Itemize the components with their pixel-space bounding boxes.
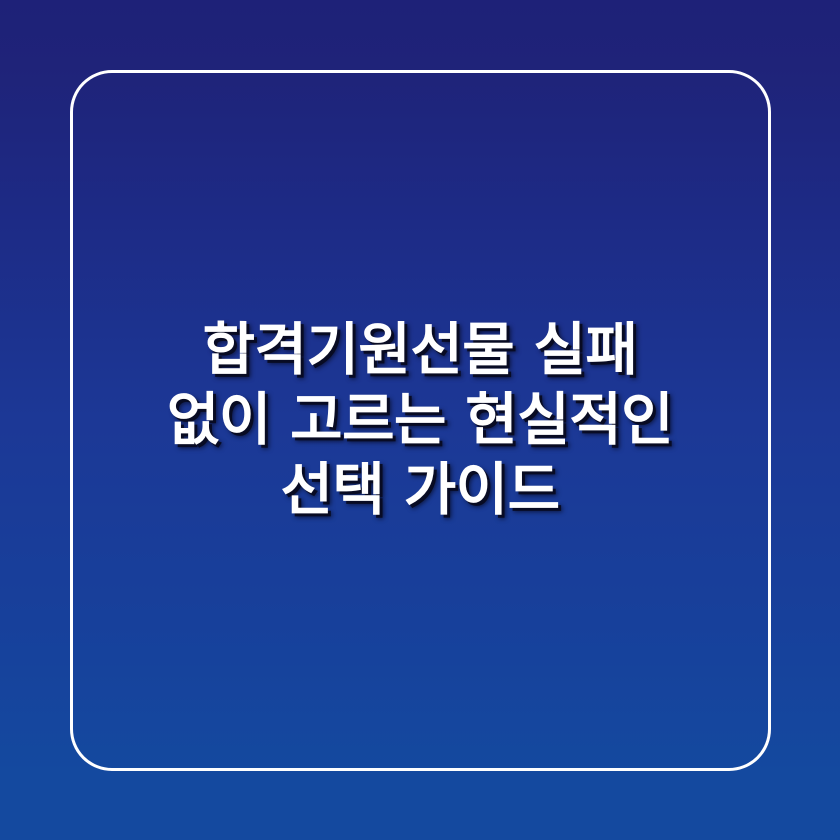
- thumbnail-card: 합격기원선물 실패 없이 고르는 현실적인 선택 가이드: [0, 0, 840, 840]
- headline-line-1: 합격기원선물 실패: [203, 315, 638, 385]
- headline-line-2: 없이 고르는 현실적인: [167, 385, 673, 455]
- headline-block: 합격기원선물 실패 없이 고르는 현실적인 선택 가이드: [0, 0, 840, 840]
- headline-line-3: 선택 가이드: [280, 455, 559, 525]
